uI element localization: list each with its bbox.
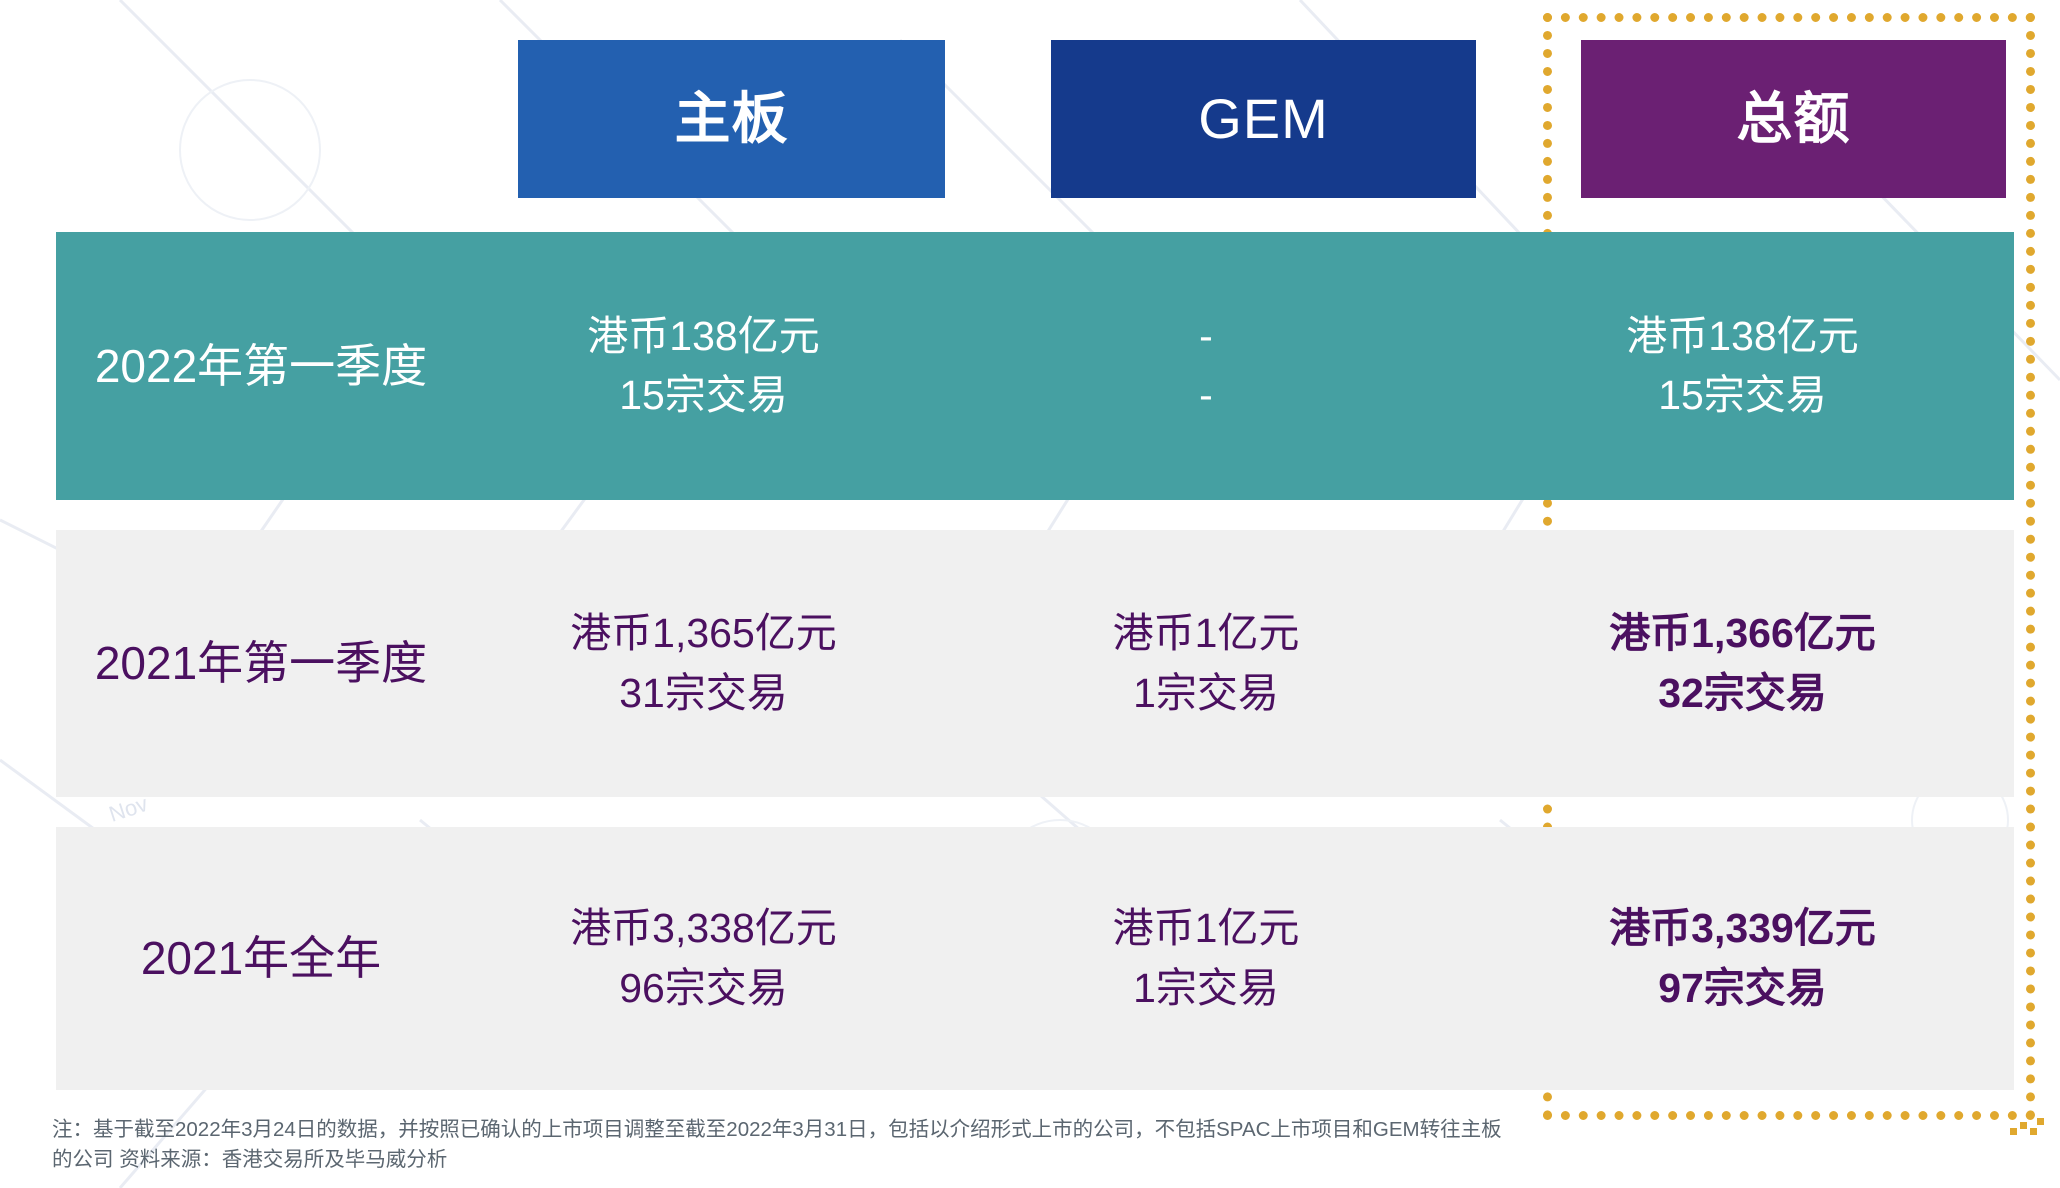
- row-mainboard-cell: 港币1,365亿元 31宗交易: [466, 610, 941, 716]
- row-mainboard-cell: 港币3,338亿元 96宗交易: [466, 905, 941, 1011]
- row-mainboard-cell: 港币138亿元 15宗交易: [466, 313, 941, 419]
- column-header-mainboard[interactable]: 主板: [518, 40, 945, 198]
- table-row: 2021年第一季度 港币1,365亿元 31宗交易 港币1亿元 1宗交易 港币1…: [56, 530, 2014, 797]
- column-header-gem[interactable]: GEM: [1051, 40, 1476, 198]
- mainboard-amount: 港币1,365亿元: [570, 610, 837, 657]
- row-gem-cell: - -: [941, 313, 1471, 419]
- column-header-mainboard-label: 主板: [675, 91, 789, 147]
- gem-deals: 1宗交易: [1133, 965, 1279, 1012]
- row-period-cell: 2022年第一季度: [56, 341, 466, 392]
- total-amount: 港币1,366亿元: [1609, 610, 1876, 657]
- gem-deals: 1宗交易: [1133, 670, 1279, 717]
- mainboard-deals: 31宗交易: [619, 670, 788, 717]
- gem-amount: 港币1亿元: [1113, 610, 1300, 657]
- row-total-cell: 港币138亿元 15宗交易: [1471, 313, 2014, 419]
- total-amount: 港币3,339亿元: [1609, 905, 1876, 952]
- row-period-cell: 2021年第一季度: [56, 638, 466, 689]
- total-deals: 15宗交易: [1658, 372, 1827, 419]
- gem-amount: 港币1亿元: [1113, 905, 1300, 952]
- column-header-total-label: 总额: [1737, 91, 1851, 147]
- mainboard-deals: 96宗交易: [619, 965, 788, 1012]
- row-gem-cell: 港币1亿元 1宗交易: [941, 905, 1471, 1011]
- mainboard-amount: 港币138亿元: [587, 313, 819, 360]
- mainboard-amount: 港币3,338亿元: [570, 905, 837, 952]
- row-period-cell: 2021年全年: [56, 933, 466, 984]
- total-deals: 32宗交易: [1658, 670, 1827, 717]
- row-period-label: 2021年第一季度: [95, 638, 427, 689]
- row-gem-cell: 港币1亿元 1宗交易: [941, 610, 1471, 716]
- corner-dots-mark: [2010, 1118, 2044, 1138]
- footnote-line-2: 的公司 资料来源：香港交易所及毕马威分析: [52, 1145, 1632, 1175]
- table-row: 2021年全年 港币3,338亿元 96宗交易 港币1亿元 1宗交易 港币3,3…: [56, 827, 2014, 1090]
- gem-amount: -: [1199, 313, 1213, 360]
- footnote-line-1: 注：基于截至2022年3月24日的数据，并按照已确认的上市项目调整至截至2022…: [52, 1115, 1632, 1145]
- total-deals: 97宗交易: [1658, 965, 1827, 1012]
- row-total-cell: 港币1,366亿元 32宗交易: [1471, 610, 2014, 716]
- row-period-label: 2022年第一季度: [95, 341, 427, 392]
- gem-deals: -: [1199, 372, 1213, 419]
- table-row: 2022年第一季度 港币138亿元 15宗交易 - - 港币138亿元 15宗交…: [56, 232, 2014, 500]
- total-amount: 港币138亿元: [1626, 313, 1858, 360]
- row-total-cell: 港币3,339亿元 97宗交易: [1471, 905, 2014, 1011]
- row-period-label: 2021年全年: [141, 933, 381, 984]
- column-header-gem-label: GEM: [1198, 91, 1329, 147]
- mainboard-deals: 15宗交易: [619, 372, 788, 419]
- footnote: 注：基于截至2022年3月24日的数据，并按照已确认的上市项目调整至截至2022…: [52, 1115, 1632, 1174]
- column-header-total[interactable]: 总额: [1581, 40, 2006, 198]
